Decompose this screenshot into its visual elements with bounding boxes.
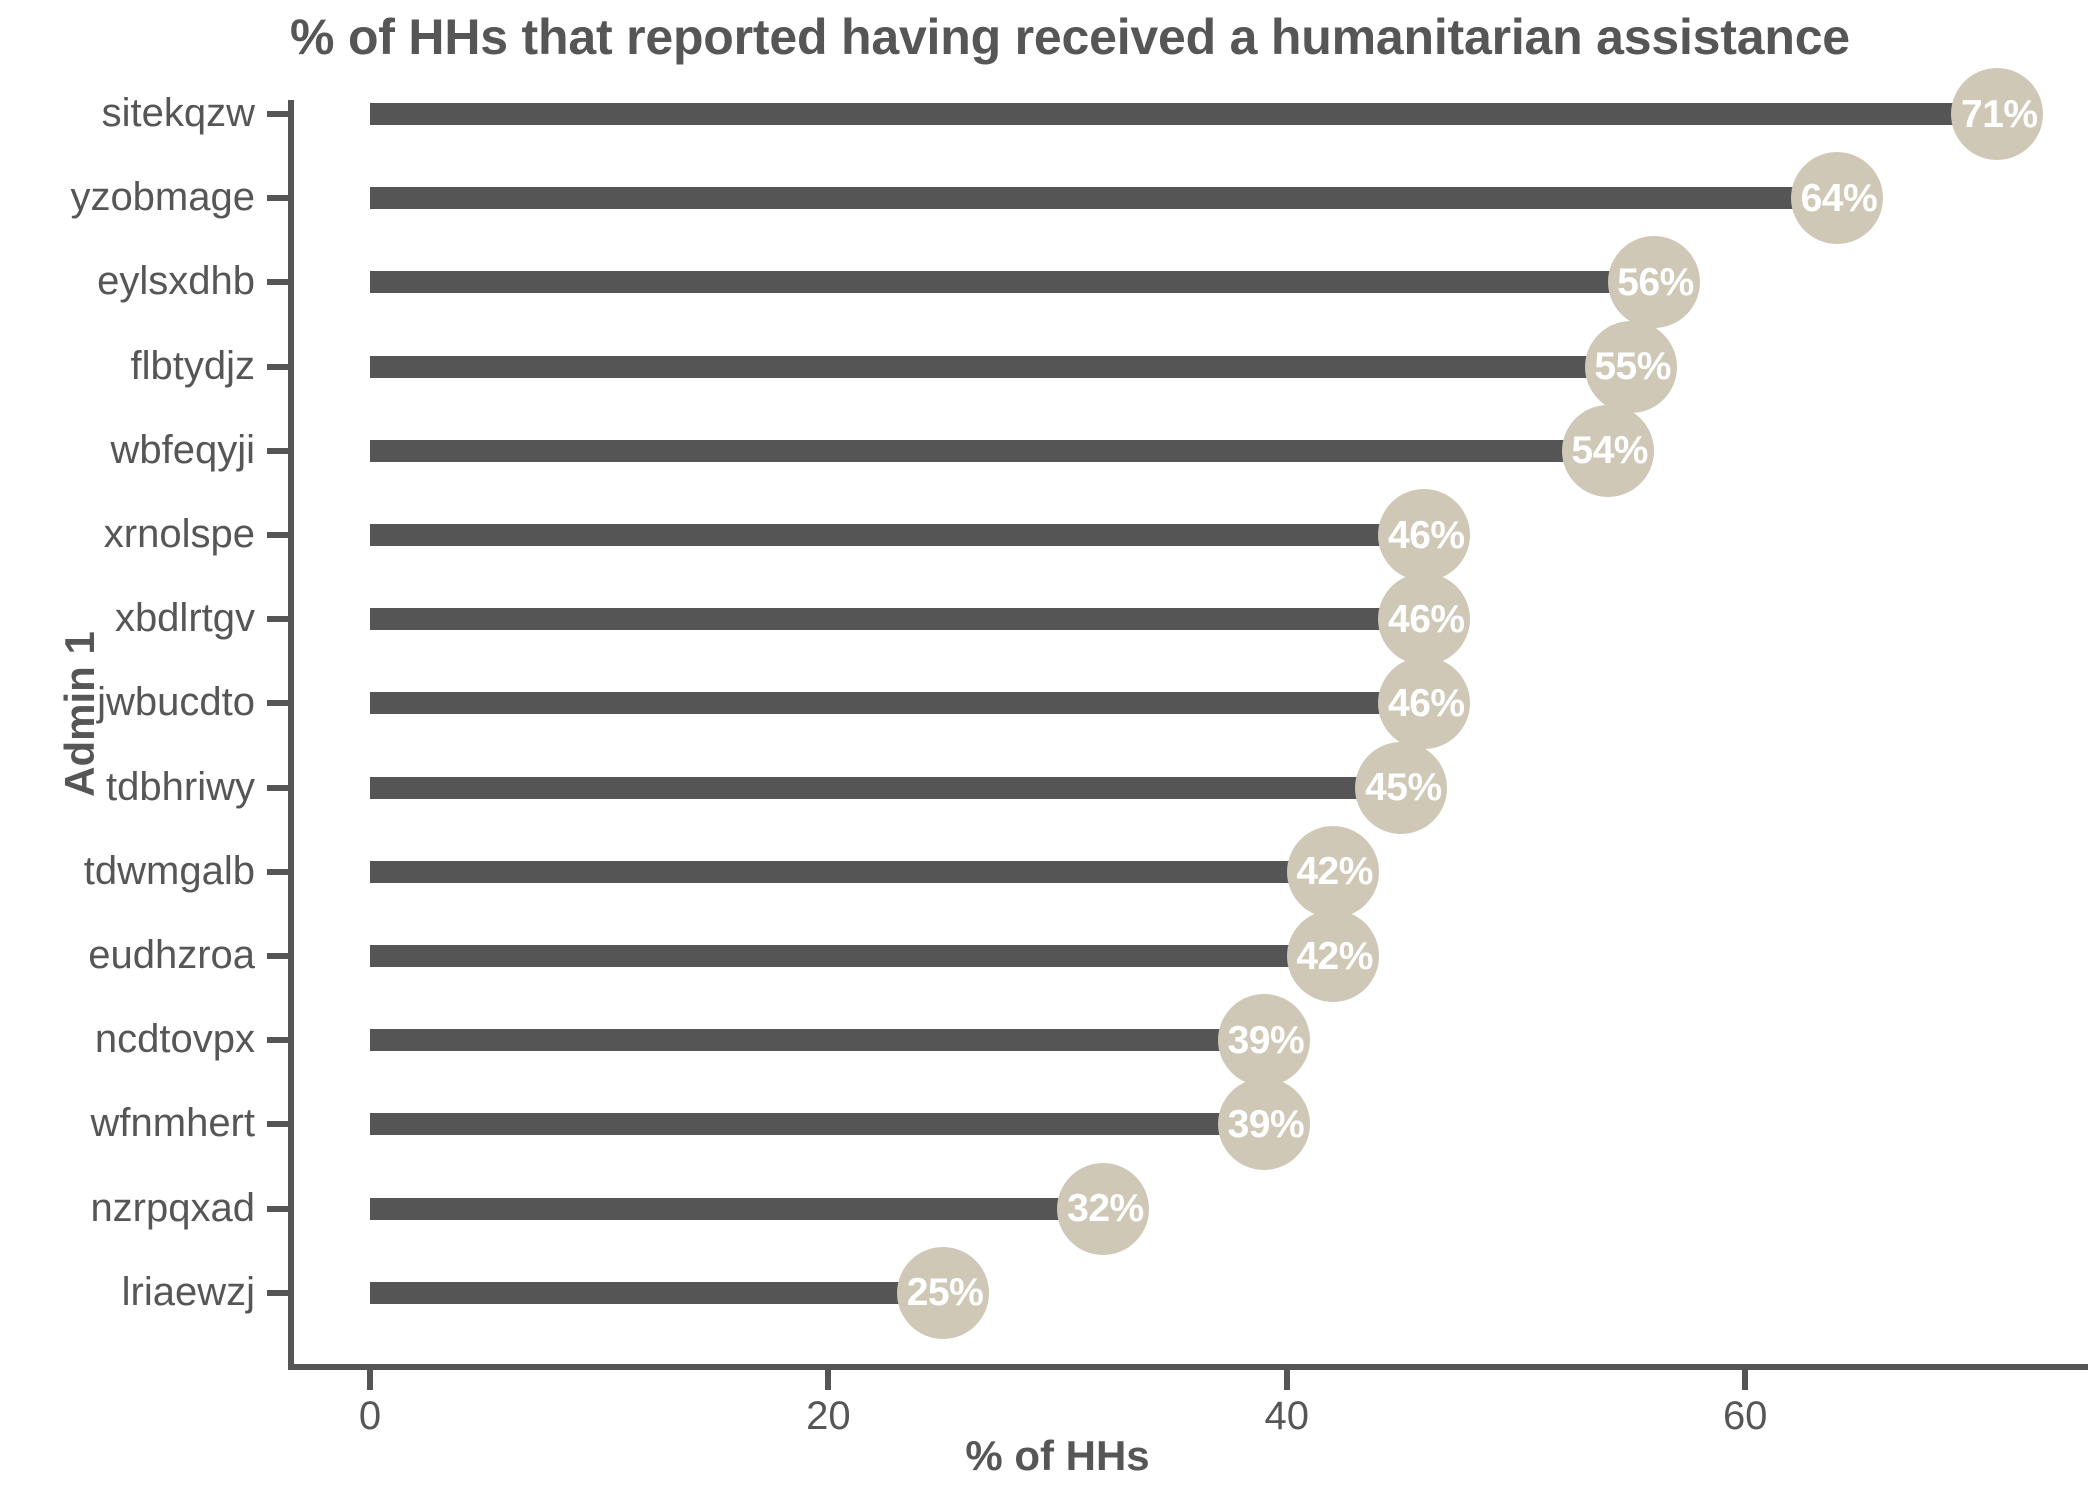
- data-point-value: 39%: [1228, 1105, 1305, 1144]
- data-point-marker[interactable]: 56%: [1608, 236, 1700, 328]
- y-tick-mark: [267, 700, 289, 706]
- data-point-marker[interactable]: 55%: [1585, 321, 1677, 413]
- lollipop-stem: [370, 187, 1837, 209]
- lollipop-stem: [370, 861, 1333, 883]
- data-point-marker[interactable]: 71%: [1951, 68, 2043, 160]
- data-point-marker[interactable]: 32%: [1057, 1163, 1149, 1255]
- y-tick-mark: [267, 953, 289, 959]
- y-axis-spine: [288, 100, 294, 1370]
- y-tick-mark: [267, 785, 289, 791]
- lollipop-stem: [370, 271, 1654, 293]
- x-tick-mark: [1742, 1370, 1748, 1390]
- y-tick-mark: [267, 1037, 289, 1043]
- y-tick-mark: [267, 364, 289, 370]
- x-tick-mark: [825, 1370, 831, 1390]
- x-tick-label: 60: [1685, 1396, 1805, 1436]
- data-point-marker[interactable]: 39%: [1218, 994, 1310, 1086]
- y-tick-label: wfnmhert: [0, 1103, 255, 1143]
- lollipop-stem: [370, 356, 1631, 378]
- y-tick-mark: [267, 1121, 289, 1127]
- y-tick-label: wbfeqyji: [0, 430, 255, 470]
- x-tick-mark: [367, 1370, 373, 1390]
- y-tick-mark: [267, 869, 289, 875]
- lollipop-stem: [370, 524, 1424, 546]
- data-point-value: 39%: [1228, 1021, 1305, 1060]
- data-point-value: 46%: [1388, 600, 1465, 639]
- data-point-value: 56%: [1617, 263, 1694, 302]
- data-point-marker[interactable]: 42%: [1287, 826, 1379, 918]
- data-point-value: 45%: [1365, 768, 1442, 807]
- y-tick-mark: [267, 448, 289, 454]
- data-point-marker[interactable]: 64%: [1791, 152, 1883, 244]
- y-tick-mark: [267, 279, 289, 285]
- lollipop-stem: [370, 1282, 943, 1304]
- data-point-value: 46%: [1388, 516, 1465, 555]
- y-tick-label: tdbhriwy: [0, 767, 255, 807]
- y-tick-label: tdwmgalb: [0, 851, 255, 891]
- x-tick-label: 20: [768, 1396, 888, 1436]
- data-point-value: 71%: [1961, 95, 2038, 134]
- data-point-marker[interactable]: 46%: [1378, 657, 1470, 749]
- y-tick-label: ncdtovpx: [0, 1019, 255, 1059]
- lollipop-stem: [370, 945, 1333, 967]
- y-tick-mark: [267, 532, 289, 538]
- lollipop-stem: [370, 1113, 1264, 1135]
- data-point-marker[interactable]: 42%: [1287, 910, 1379, 1002]
- x-tick-label: 40: [1227, 1396, 1347, 1436]
- data-point-marker[interactable]: 46%: [1378, 573, 1470, 665]
- data-point-marker[interactable]: 45%: [1355, 742, 1447, 834]
- y-tick-mark: [267, 1290, 289, 1296]
- data-point-value: 42%: [1296, 937, 1373, 976]
- chart-container: % of HHs that reported having received a…: [0, 0, 2100, 1500]
- x-axis-spine: [288, 1364, 2088, 1370]
- plot-area: 71%64%56%55%54%46%46%46%45%42%42%39%39%3…: [0, 0, 2100, 1500]
- data-point-value: 32%: [1067, 1189, 1144, 1228]
- y-tick-label: flbtydjz: [0, 346, 255, 386]
- y-tick-label: xbdlrtgv: [0, 598, 255, 638]
- data-point-value: 25%: [907, 1273, 984, 1312]
- y-tick-label: sitekqzw: [0, 93, 255, 133]
- y-tick-label: eudhzroa: [0, 935, 255, 975]
- lollipop-stem: [370, 1198, 1103, 1220]
- y-tick-label: nzrpqxad: [0, 1188, 255, 1228]
- y-tick-label: lriaewzj: [0, 1272, 255, 1312]
- data-point-value: 54%: [1571, 431, 1648, 470]
- data-point-marker[interactable]: 39%: [1218, 1078, 1310, 1170]
- y-tick-label: xrnolspe: [0, 514, 255, 554]
- lollipop-stem: [370, 103, 1997, 125]
- data-point-value: 55%: [1594, 347, 1671, 386]
- lollipop-stem: [370, 440, 1608, 462]
- y-tick-mark: [267, 195, 289, 201]
- data-point-value: 64%: [1801, 179, 1878, 218]
- lollipop-stem: [370, 777, 1401, 799]
- lollipop-stem: [370, 692, 1424, 714]
- lollipop-stem: [370, 1029, 1264, 1051]
- data-point-marker[interactable]: 54%: [1562, 405, 1654, 497]
- y-tick-mark: [267, 1206, 289, 1212]
- y-tick-label: eylsxdhb: [0, 261, 255, 301]
- y-tick-mark: [267, 111, 289, 117]
- data-point-value: 46%: [1388, 684, 1465, 723]
- data-point-marker[interactable]: 25%: [897, 1247, 989, 1339]
- x-tick-label: 0: [310, 1396, 430, 1436]
- y-tick-label: jwbucdto: [0, 682, 255, 722]
- y-tick-label: yzobmage: [0, 177, 255, 217]
- lollipop-stem: [370, 608, 1424, 630]
- y-tick-mark: [267, 616, 289, 622]
- data-point-value: 42%: [1296, 852, 1373, 891]
- x-tick-mark: [1284, 1370, 1290, 1390]
- data-point-marker[interactable]: 46%: [1378, 489, 1470, 581]
